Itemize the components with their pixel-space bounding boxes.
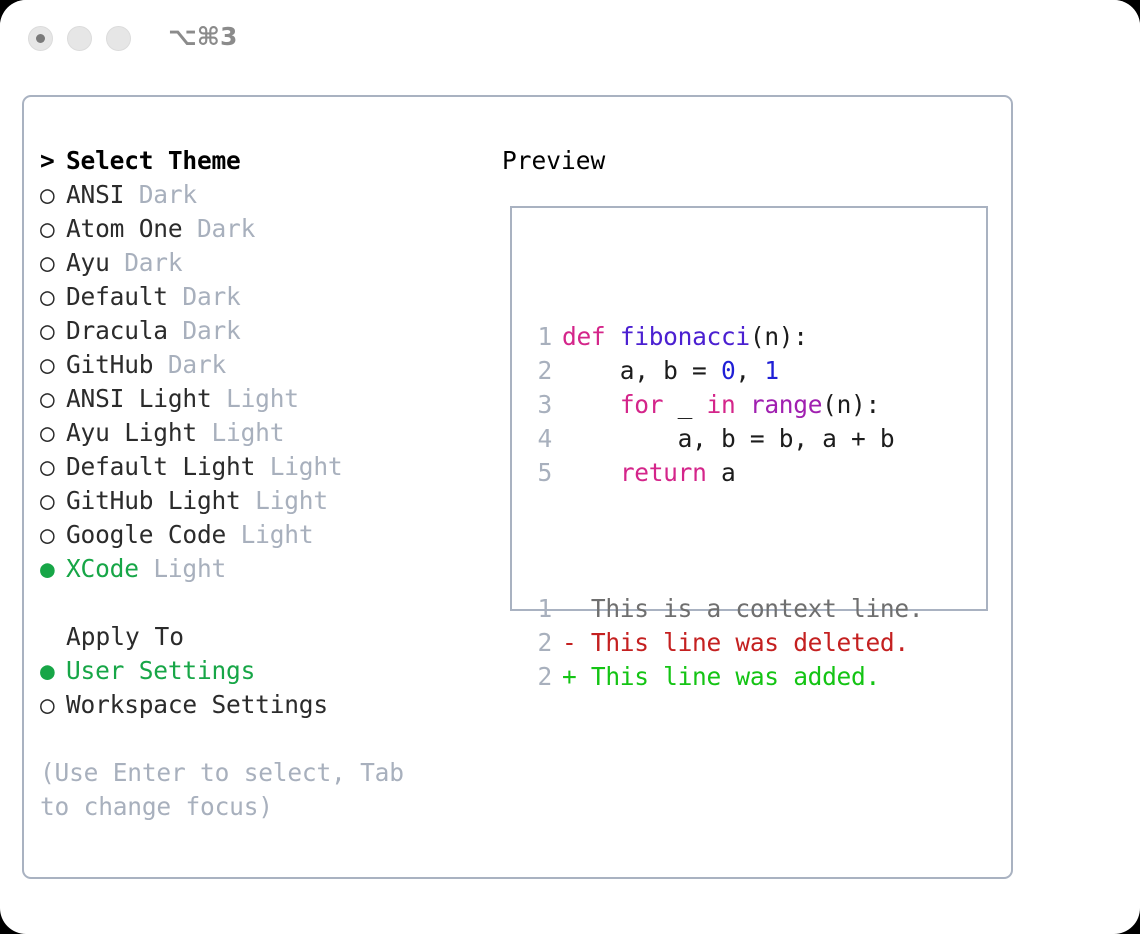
code-token: (n): bbox=[822, 390, 880, 419]
prompt-caret-icon: > bbox=[40, 144, 66, 178]
window-title: ⌥⌘3 bbox=[168, 22, 237, 51]
title-bar: ⌥⌘3 bbox=[0, 0, 1140, 78]
theme-name: Default Light bbox=[66, 452, 255, 481]
theme-list-column: >Select Theme ○ANSI Dark○Atom One Dark○A… bbox=[40, 144, 492, 824]
theme-option-row[interactable]: ○Default Dark bbox=[40, 280, 492, 314]
theme-variant-badge: Light bbox=[226, 520, 313, 549]
apply-to-heading: Apply To bbox=[40, 620, 492, 654]
code-token: a bbox=[707, 458, 736, 487]
theme-variant-badge: Dark bbox=[168, 316, 241, 345]
line-number: 2 bbox=[526, 626, 552, 660]
theme-option-row[interactable]: ○Atom One Dark bbox=[40, 212, 492, 246]
theme-option-row[interactable]: ○Google Code Light bbox=[40, 518, 492, 552]
list-spacer bbox=[40, 586, 492, 620]
active-dot-icon bbox=[36, 34, 45, 43]
preview-column: Preview 1def fibonacci(n):2 a, b = 0, 13… bbox=[502, 144, 1002, 178]
code-token: 0 bbox=[721, 356, 735, 385]
theme-option-row[interactable]: ○GitHub Dark bbox=[40, 348, 492, 382]
line-number: 5 bbox=[526, 456, 552, 490]
diff-text: This line was added. bbox=[576, 662, 879, 691]
theme-option-row[interactable]: ○Ayu Light Light bbox=[40, 416, 492, 450]
apply-to-option-label: Workspace Settings bbox=[66, 690, 328, 719]
theme-name: ANSI bbox=[66, 180, 124, 209]
code-token: , bbox=[735, 356, 764, 385]
theme-name: Ayu Light bbox=[66, 418, 197, 447]
diff-text: This line was deleted. bbox=[576, 628, 908, 657]
radio-unselected-icon: ○ bbox=[40, 314, 66, 348]
window-zoom-button[interactable] bbox=[106, 26, 131, 51]
code-token bbox=[735, 390, 749, 419]
preview-heading: Preview bbox=[502, 144, 1002, 178]
diff-line: 2+ This line was added. bbox=[526, 660, 923, 694]
select-theme-label: Select Theme bbox=[66, 146, 241, 175]
code-line: 5 return a bbox=[526, 456, 923, 490]
theme-option-row[interactable]: ○Dracula Dark bbox=[40, 314, 492, 348]
apply-to-option-label: User Settings bbox=[66, 656, 255, 685]
theme-variant-badge: Dark bbox=[110, 248, 183, 277]
window-close-button[interactable] bbox=[28, 26, 53, 51]
preview-box: 1def fibonacci(n):2 a, b = 0, 13 for _ i… bbox=[510, 206, 988, 611]
radio-unselected-icon: ○ bbox=[40, 212, 66, 246]
diff-line: 1 This is a context line. bbox=[526, 592, 923, 626]
theme-variant-badge: Dark bbox=[168, 282, 241, 311]
line-number: 4 bbox=[526, 422, 552, 456]
theme-option-row[interactable]: ○ANSI Light Light bbox=[40, 382, 492, 416]
theme-name: Default bbox=[66, 282, 168, 311]
theme-picker-panel: >Select Theme ○ANSI Dark○Atom One Dark○A… bbox=[22, 95, 1013, 879]
theme-name: Google Code bbox=[66, 520, 226, 549]
theme-option-row[interactable]: ○Ayu Dark bbox=[40, 246, 492, 280]
window-minimize-button[interactable] bbox=[67, 26, 92, 51]
code-token bbox=[562, 458, 620, 487]
diff-sign: - bbox=[562, 628, 576, 657]
diff-sign: + bbox=[562, 662, 576, 691]
radio-selected-icon: ● bbox=[40, 552, 66, 586]
theme-variant-badge: Light bbox=[212, 384, 299, 413]
theme-variant-badge: Light bbox=[255, 452, 342, 481]
theme-variant-badge: Light bbox=[139, 554, 226, 583]
radio-unselected-icon: ○ bbox=[40, 518, 66, 552]
theme-variant-badge: Light bbox=[197, 418, 284, 447]
code-line: 3 for _ in range(n): bbox=[526, 388, 923, 422]
theme-option-list: ○ANSI Dark○Atom One Dark○Ayu Dark○Defaul… bbox=[40, 178, 492, 586]
theme-variant-badge: Dark bbox=[182, 214, 255, 243]
theme-name: GitHub Light bbox=[66, 486, 241, 515]
theme-option-row[interactable]: ●XCode Light bbox=[40, 552, 492, 586]
diff-text: This is a context line. bbox=[576, 594, 923, 623]
terminal-window: ⌥⌘3 >Select Theme ○ANSI Dark○Atom One Da… bbox=[0, 0, 1140, 934]
code-token: fibonacci bbox=[620, 322, 750, 351]
theme-name: ANSI Light bbox=[66, 384, 212, 413]
line-number: 1 bbox=[526, 320, 552, 354]
theme-option-row[interactable]: ○GitHub Light Light bbox=[40, 484, 492, 518]
code-token: range bbox=[750, 390, 822, 419]
line-number: 2 bbox=[526, 660, 552, 694]
syntax-sample-lines: 1def fibonacci(n):2 a, b = 0, 13 for _ i… bbox=[526, 320, 923, 490]
radio-unselected-icon: ○ bbox=[40, 348, 66, 382]
code-token: a, b = b, a + b bbox=[562, 424, 894, 453]
code-token: return bbox=[620, 458, 707, 487]
line-number: 2 bbox=[526, 354, 552, 388]
theme-name: Ayu bbox=[66, 248, 110, 277]
code-token: a, b = bbox=[562, 356, 721, 385]
apply-to-option-row[interactable]: ●User Settings bbox=[40, 654, 492, 688]
code-preview: 1def fibonacci(n):2 a, b = 0, 13 for _ i… bbox=[526, 252, 923, 762]
radio-unselected-icon: ○ bbox=[40, 484, 66, 518]
radio-unselected-icon: ○ bbox=[40, 416, 66, 450]
theme-name: XCode bbox=[66, 554, 139, 583]
radio-unselected-icon: ○ bbox=[40, 688, 66, 722]
theme-option-row[interactable]: ○Default Light Light bbox=[40, 450, 492, 484]
apply-to-option-list: ●User Settings○Workspace Settings bbox=[40, 654, 492, 722]
line-number: 3 bbox=[526, 388, 552, 422]
traffic-light-buttons bbox=[28, 26, 131, 51]
code-token: def bbox=[562, 322, 620, 351]
code-token: _ bbox=[663, 390, 706, 419]
diff-line: 2- This line was deleted. bbox=[526, 626, 923, 660]
diff-sample-lines: 1 This is a context line.2- This line wa… bbox=[526, 592, 923, 694]
radio-unselected-icon: ○ bbox=[40, 382, 66, 416]
code-line: 1def fibonacci(n): bbox=[526, 320, 923, 354]
theme-variant-badge: Light bbox=[241, 486, 328, 515]
keyboard-hint: (Use Enter to select, Tab to change focu… bbox=[40, 756, 445, 824]
radio-unselected-icon: ○ bbox=[40, 280, 66, 314]
code-token: (n): bbox=[750, 322, 808, 351]
select-theme-heading: >Select Theme bbox=[40, 144, 492, 178]
code-token: in bbox=[707, 390, 736, 419]
theme-name: Dracula bbox=[66, 316, 168, 345]
radio-unselected-icon: ○ bbox=[40, 450, 66, 484]
code-line: 2 a, b = 0, 1 bbox=[526, 354, 923, 388]
radio-selected-icon: ● bbox=[40, 654, 66, 688]
radio-unselected-icon: ○ bbox=[40, 178, 66, 212]
theme-variant-badge: Dark bbox=[153, 350, 226, 379]
radio-unselected-icon: ○ bbox=[40, 246, 66, 280]
theme-option-row[interactable]: ○ANSI Dark bbox=[40, 178, 492, 212]
code-line: 4 a, b = b, a + b bbox=[526, 422, 923, 456]
code-token bbox=[562, 390, 620, 419]
apply-to-option-row[interactable]: ○Workspace Settings bbox=[40, 688, 492, 722]
line-number: 1 bbox=[526, 592, 552, 626]
code-token: for bbox=[620, 390, 663, 419]
theme-name: GitHub bbox=[66, 350, 153, 379]
theme-name: Atom One bbox=[66, 214, 182, 243]
theme-variant-badge: Dark bbox=[124, 180, 197, 209]
diff-sign bbox=[562, 594, 576, 623]
code-token: 1 bbox=[764, 356, 778, 385]
